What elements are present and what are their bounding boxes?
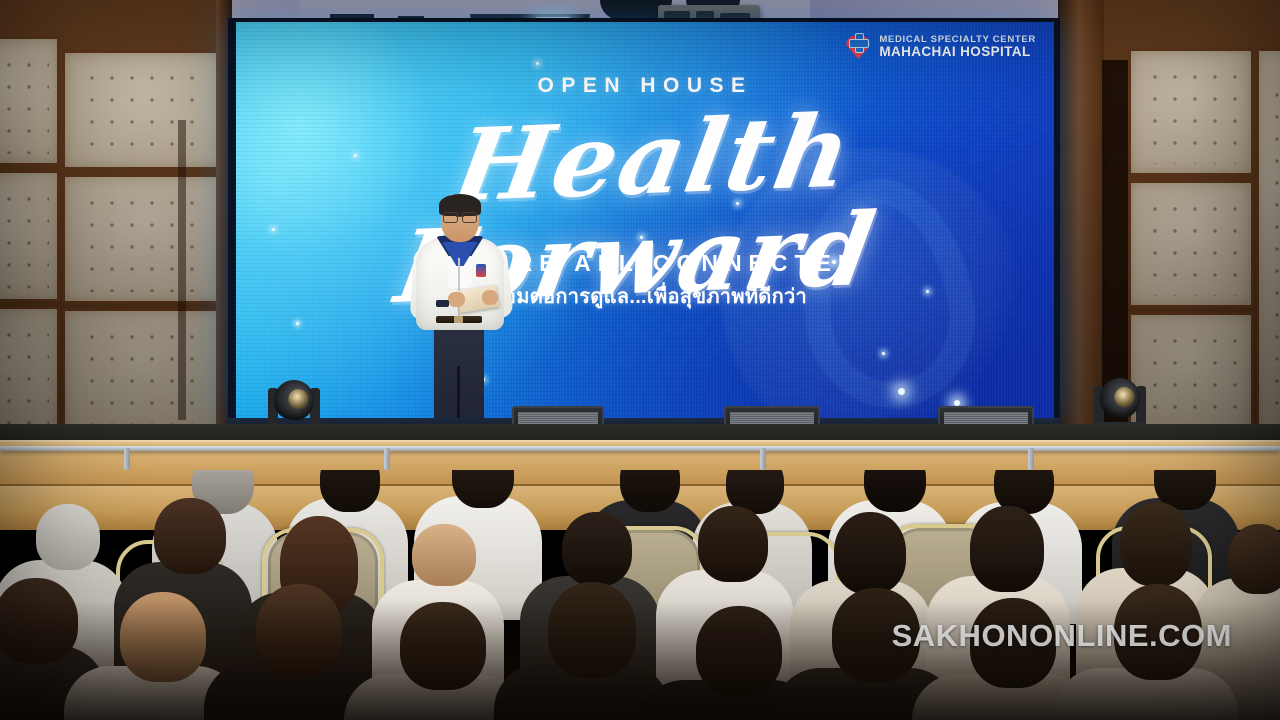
speaker-left-hand — [448, 292, 465, 307]
hospital-logo-line2: MAHACHAI HOSPITAL — [879, 45, 1036, 59]
stage-handrail — [0, 446, 1280, 451]
tagline-thai: เชื่อมต่อการดูแล...เพื่อสุขภาพที่ดีกว่า — [236, 280, 1054, 312]
eyeglasses-icon — [443, 212, 477, 221]
light-lens — [286, 387, 310, 411]
tagline-english: WE ARE ALL CONNECTED — [236, 250, 1054, 277]
speaker-right-hand — [482, 290, 498, 305]
hospital-logo: MEDICAL SPECIALTY CENTER MAHACHAI HOSPIT… — [844, 32, 1036, 62]
watermark: SAKHONONLINE.COM — [892, 618, 1232, 654]
speaker-person — [408, 196, 512, 440]
handrail-post — [1028, 448, 1034, 470]
kicker-text: OPEN HOUSE — [236, 74, 1054, 98]
light-lens — [1112, 385, 1136, 409]
medical-cross-heart-icon — [844, 32, 872, 62]
led-screen: OPEN HOUSE Health Forward WE ARE ALL CON… — [236, 22, 1054, 424]
audience-area — [0, 470, 1280, 720]
hospital-logo-text: MEDICAL SPECIALTY CENTER MAHACHAI HOSPIT… — [879, 35, 1036, 59]
wall-left — [0, 0, 232, 470]
handrail-post — [760, 448, 766, 470]
wall-left-shading — [0, 0, 232, 470]
handrail-post — [124, 448, 130, 470]
speaker-chest-emblem — [476, 264, 486, 277]
speaker-wristwatch — [436, 300, 449, 307]
cross-shape — [849, 33, 867, 51]
handrail-post — [384, 448, 390, 470]
photo-scene: OPEN HOUSE Health Forward WE ARE ALL CON… — [0, 0, 1280, 720]
speaker-belt-buckle — [454, 316, 463, 323]
screen-content: OPEN HOUSE Health Forward WE ARE ALL CON… — [236, 22, 1054, 424]
